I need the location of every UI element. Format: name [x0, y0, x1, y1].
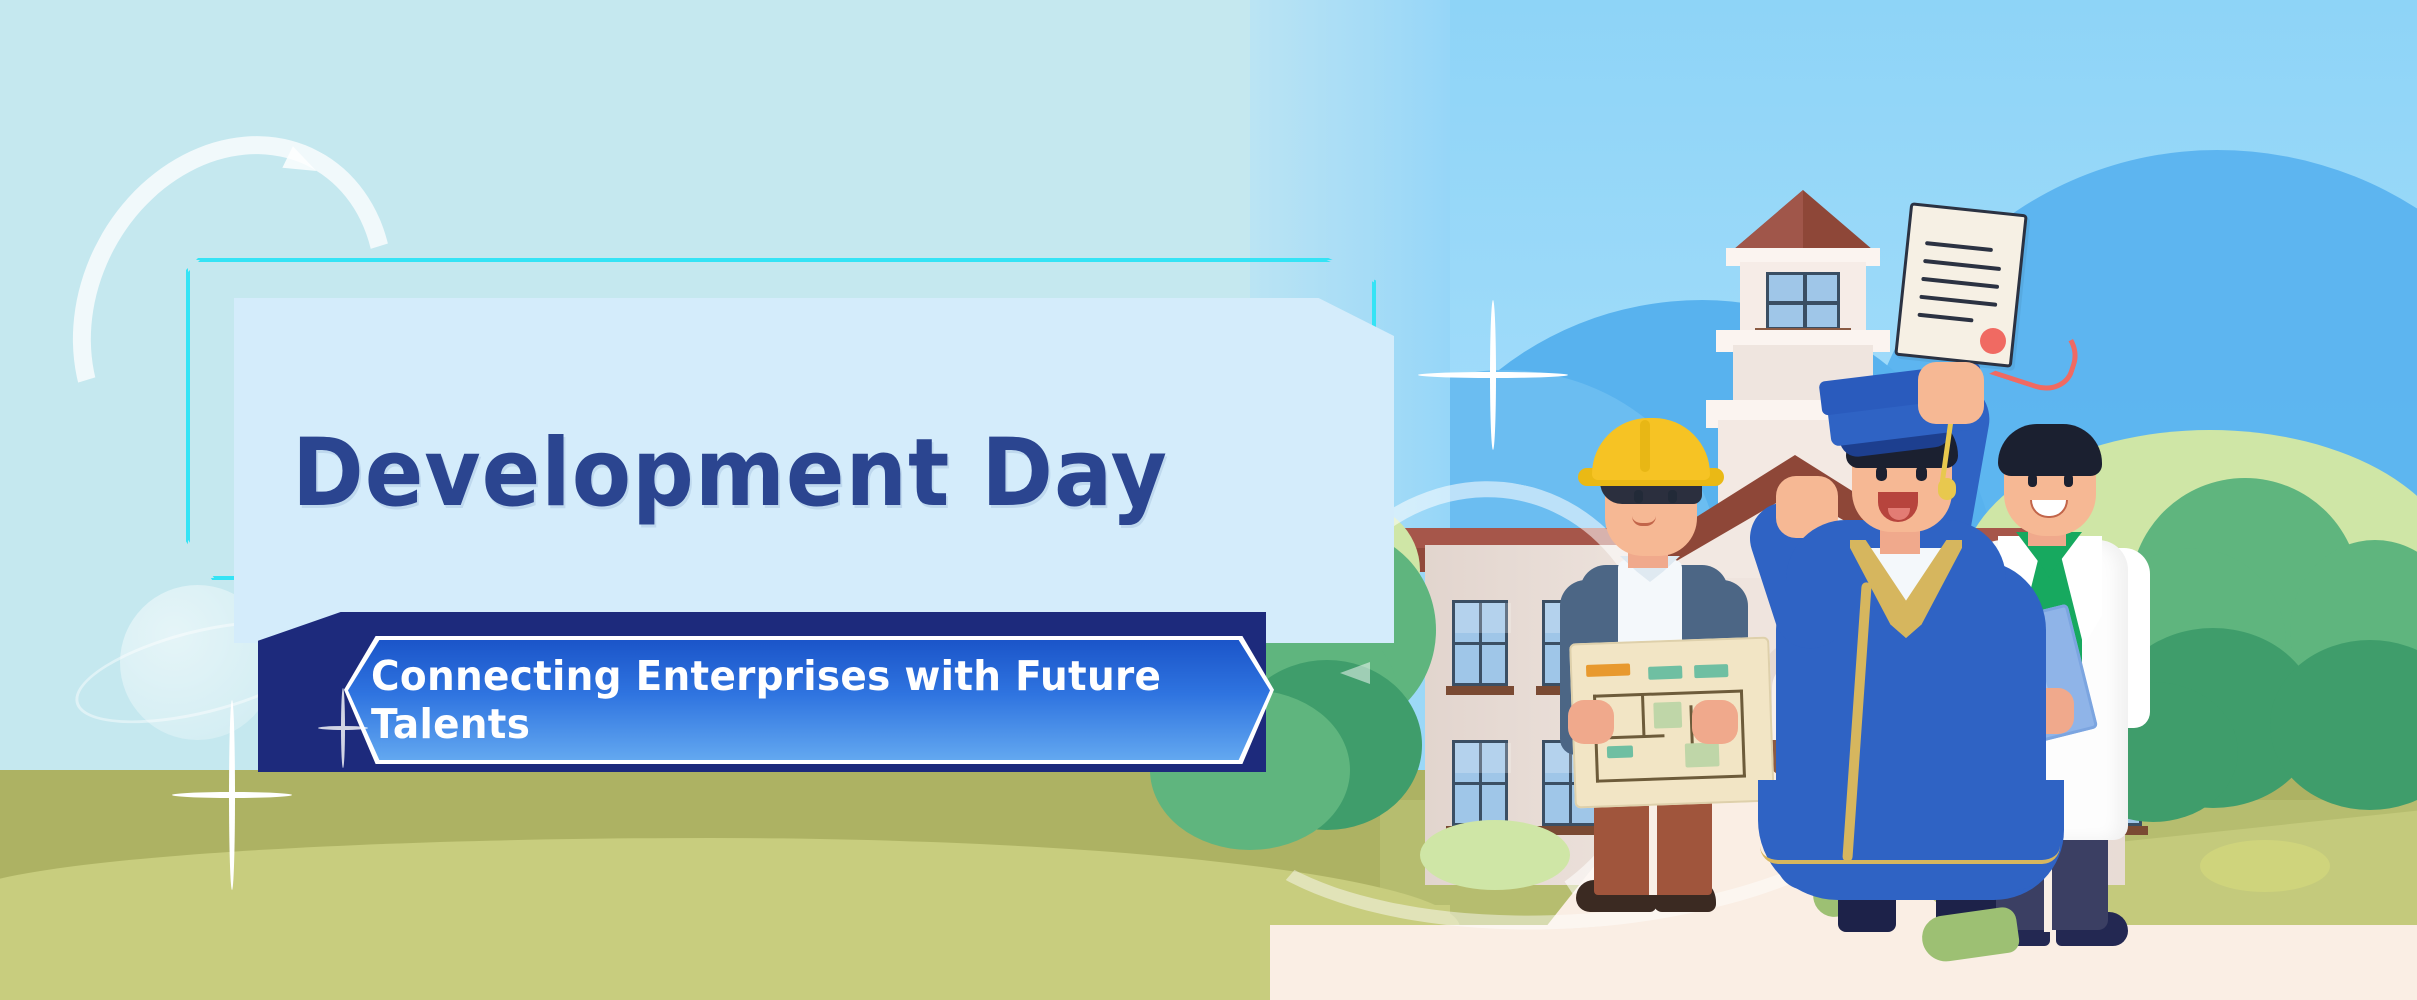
sparkle-star-small: [318, 688, 368, 768]
sparkle-star-right: [1418, 300, 1568, 450]
page-subtitle: Connecting Enterprises with Future Talen…: [371, 640, 1247, 760]
sparkle-star-left: [172, 700, 292, 890]
title-line-1: Development Day: [292, 426, 1286, 522]
event-banner: Development Day for Campus Elites Connec…: [0, 0, 2417, 1000]
headline-block: Development Day for Campus Elites Connec…: [0, 0, 2417, 1000]
